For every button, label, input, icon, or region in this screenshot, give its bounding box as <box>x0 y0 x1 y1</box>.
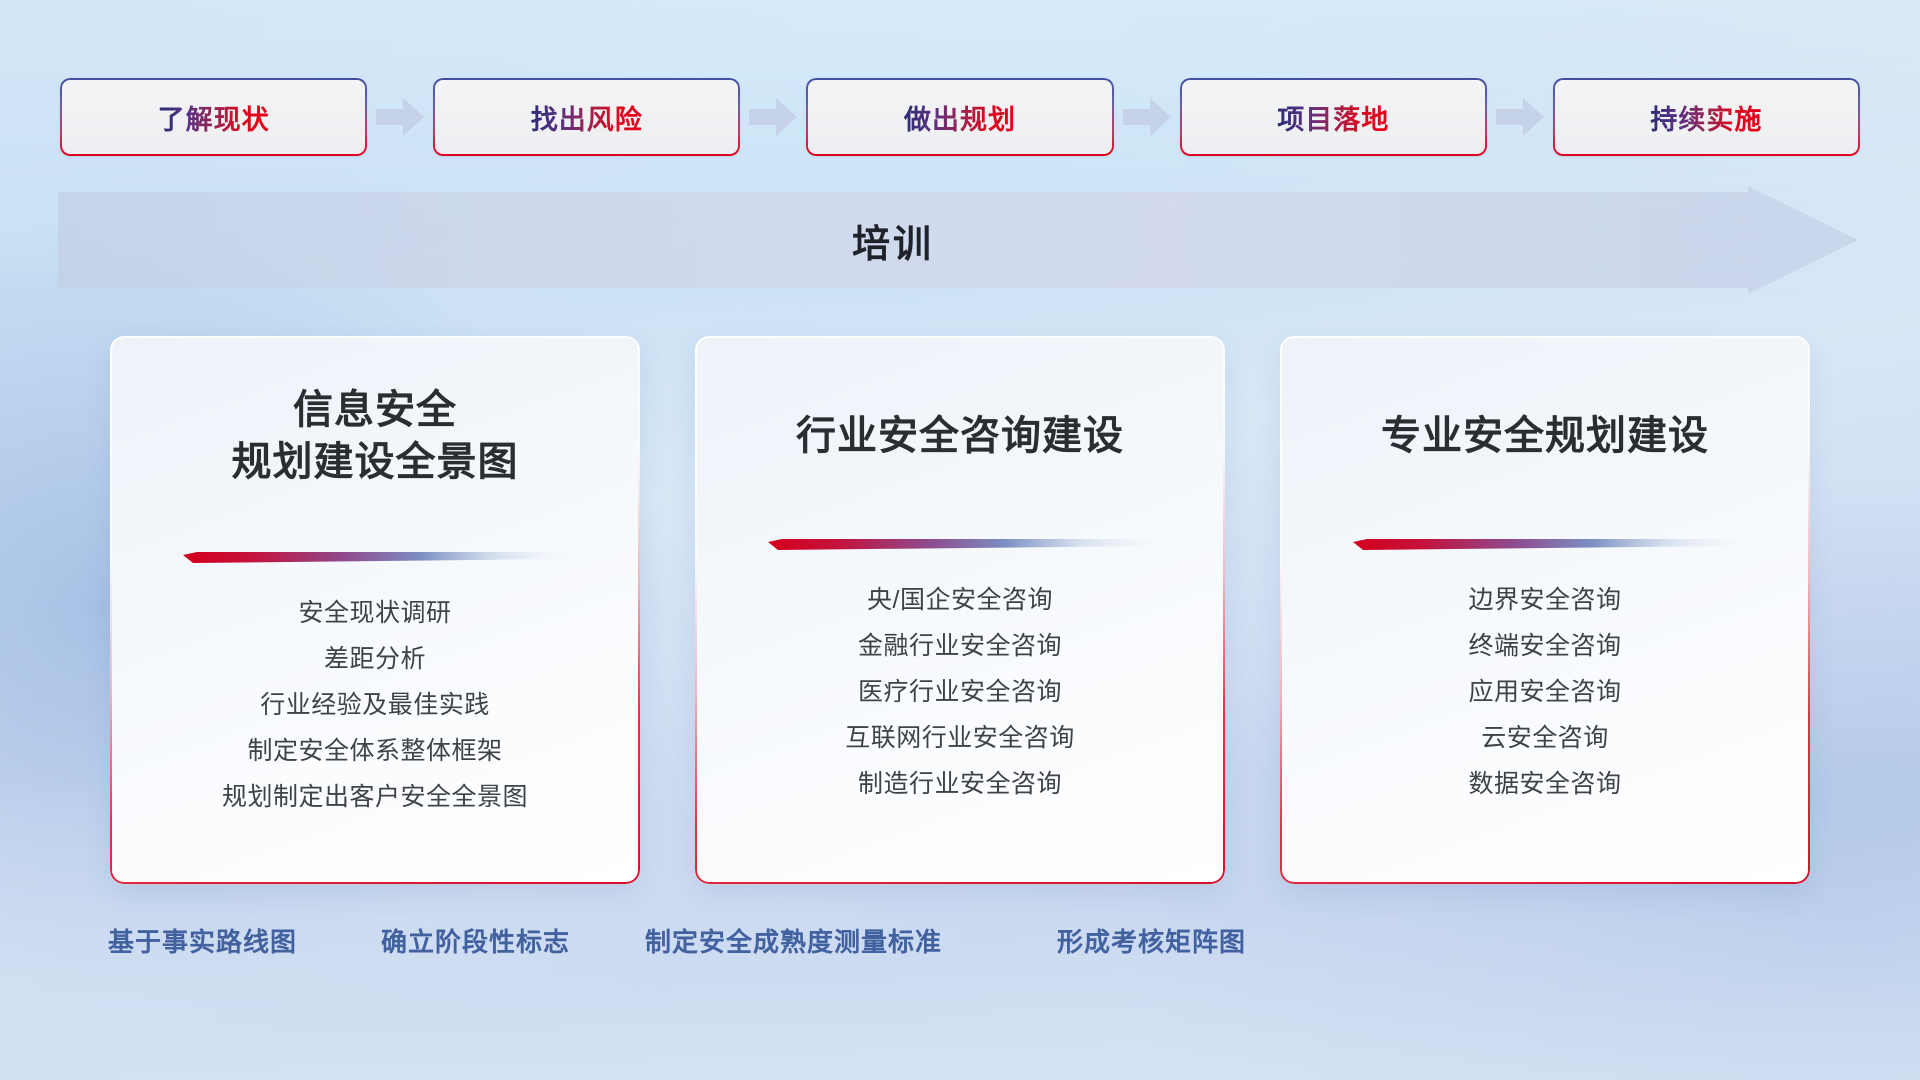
card-title: 行业安全咨询建设 <box>721 336 1199 462</box>
slide-stage: 了解现状 找出风险 做出规划 项目落地 <box>0 0 1920 1080</box>
list-item: 终端安全咨询 <box>1306 623 1784 669</box>
list-item: 制定安全体系整体框架 <box>136 728 614 774</box>
card-title: 专业安全规划建设 <box>1306 336 1784 462</box>
gradient-divider-icon <box>1353 539 1737 551</box>
step-box-2[interactable]: 找出风险 <box>433 78 740 156</box>
card-title-line: 规划建设全景图 <box>136 436 614 488</box>
card-item-list: 边界安全咨询 终端安全咨询 应用安全咨询 云安全咨询 数据安全咨询 <box>1306 551 1784 807</box>
footnote-matrix: 形成考核矩阵图 <box>1057 922 1246 959</box>
list-item: 差距分析 <box>136 636 614 682</box>
arrow-right-icon <box>740 78 806 156</box>
step-label-1: 了解现状 <box>158 98 270 137</box>
gradient-divider-icon <box>183 552 567 564</box>
list-item: 金融行业安全咨询 <box>721 623 1199 669</box>
step-label-5: 持续实施 <box>1650 98 1762 137</box>
list-item: 数据安全咨询 <box>1306 761 1784 807</box>
banner-title: 培训 <box>58 186 1858 294</box>
card-item-list: 安全现状调研 差距分析 行业经验及最佳实践 制定安全体系整体框架 规划制定出客户… <box>136 564 614 820</box>
list-item: 医疗行业安全咨询 <box>721 669 1199 715</box>
step-box-3[interactable]: 做出规划 <box>806 78 1113 156</box>
process-step-row: 了解现状 找出风险 做出规划 项目落地 <box>60 78 1860 156</box>
footnote-row: 基于事实路线图 确立阶段性标志 制定安全成熟度测量标准 形成考核矩阵图 <box>0 922 1920 968</box>
footnote-maturity: 制定安全成熟度测量标准 <box>645 922 942 959</box>
training-banner: 培训 <box>58 186 1858 294</box>
arrow-right-icon <box>1487 78 1553 156</box>
step-box-1[interactable]: 了解现状 <box>60 78 367 156</box>
card-row: 信息安全 规划建设全景图 <box>110 336 1810 884</box>
step-box-4[interactable]: 项目落地 <box>1180 78 1487 156</box>
list-item: 边界安全咨询 <box>1306 577 1784 623</box>
card-information-security-blueprint[interactable]: 信息安全 规划建设全景图 <box>110 336 640 884</box>
card-title-line: 信息安全 <box>136 384 614 436</box>
arrow-right-icon <box>1114 78 1180 156</box>
list-item: 规划制定出客户安全全景图 <box>136 774 614 820</box>
card-industry-security-consulting[interactable]: 行业安全咨询建设 <box>695 336 1225 884</box>
step-label-3: 做出规划 <box>904 98 1016 137</box>
card-title-line: 行业安全咨询建设 <box>721 410 1199 462</box>
footnote-milestone: 确立阶段性标志 <box>381 922 570 959</box>
list-item: 央/国企安全咨询 <box>721 577 1199 623</box>
arrow-right-icon <box>367 78 433 156</box>
card-professional-security-planning[interactable]: 专业安全规划建设 <box>1280 336 1810 884</box>
step-label-2: 找出风险 <box>531 98 643 137</box>
list-item: 安全现状调研 <box>136 590 614 636</box>
step-box-5[interactable]: 持续实施 <box>1553 78 1860 156</box>
card-title: 信息安全 规划建设全景图 <box>136 336 614 488</box>
list-item: 制造行业安全咨询 <box>721 761 1199 807</box>
gradient-divider-icon <box>768 539 1152 551</box>
list-item: 行业经验及最佳实践 <box>136 682 614 728</box>
list-item: 互联网行业安全咨询 <box>721 715 1199 761</box>
step-label-4: 项目落地 <box>1277 98 1389 137</box>
list-item: 应用安全咨询 <box>1306 669 1784 715</box>
card-title-line: 专业安全规划建设 <box>1306 410 1784 462</box>
list-item: 云安全咨询 <box>1306 715 1784 761</box>
card-item-list: 央/国企安全咨询 金融行业安全咨询 医疗行业安全咨询 互联网行业安全咨询 制造行… <box>721 551 1199 807</box>
footnote-roadmap: 基于事实路线图 <box>108 922 297 959</box>
